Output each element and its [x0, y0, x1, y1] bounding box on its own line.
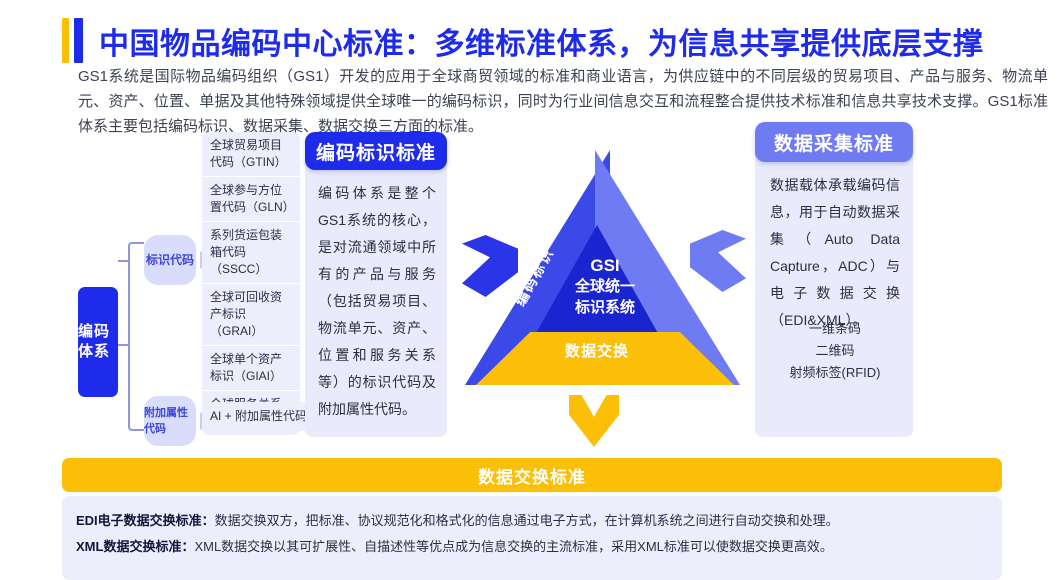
list-item[interactable]: 全球可回收资产标识（GRAI）: [202, 284, 300, 346]
triangle-center-label: GSI 全球统一 标识系统: [555, 255, 655, 318]
carrier-item: 射频标签(RFID): [770, 362, 900, 384]
capture-standard-title: 数据采集标准: [755, 122, 913, 162]
branch-badge-identification[interactable]: 标识代码: [144, 235, 196, 285]
branch-badge-attributes-line1: 附加属性代码: [144, 405, 196, 437]
data-exchange-body: EDI电子数据交换标准：数据交换双方，把标准、协议规范化和格式化的信息通过电子方…: [62, 496, 1002, 580]
carrier-item: 一维条码: [770, 318, 900, 340]
triangle-center-gsi: GSI: [555, 255, 655, 276]
exchange-line-edi-label: EDI电子数据交换标准：: [76, 513, 215, 528]
exchange-line-edi: EDI电子数据交换标准：数据交换双方，把标准、协议规范化和格式化的信息通过电子方…: [76, 508, 988, 534]
page-title: 中国物品编码中心标准：多维标准体系，为信息共享提供底层支撑: [99, 19, 984, 63]
list-item[interactable]: 全球参与方位置代码（GLN）: [202, 177, 300, 222]
tree-root-label: 编码体系: [78, 287, 118, 397]
capture-carrier-list: 一维条码 二维码 射频标签(RFID): [770, 318, 900, 384]
accent-bar-blue: [74, 18, 83, 63]
exchange-line-edi-text: 数据交换双方，把标准、协议规范化和格式化的信息通过电子方式，在计算机系统之间进行…: [215, 513, 839, 528]
branch-badge-identification-line1: 标识代码: [146, 252, 194, 268]
exchange-line-xml-text: XML数据交换以其可扩展性、自描述性等优点成为信息交换的主流标准，采用XML标准…: [194, 539, 832, 554]
list-item[interactable]: 系列货运包装箱代码（SSCC）: [202, 222, 300, 284]
attribute-code-item[interactable]: AI + 附加属性代码: [202, 402, 316, 431]
tree-tick-bottom: [118, 344, 130, 346]
list-item[interactable]: 全球单个资产标识（GIAI）: [202, 346, 300, 391]
capture-standard-body: 数据载体承载编码信息，用于自动数据采集（Auto Data Capture，AD…: [770, 172, 900, 334]
triangle-edge-label-exchange: 数据交换: [565, 340, 629, 361]
branch-badge-attributes[interactable]: 附加属性代码: [144, 396, 196, 446]
tree-bracket: [128, 242, 144, 431]
gs1-triangle-diagram: GSI 全球统一 标识系统 编码标识 数据采集 数据交换: [450, 140, 760, 440]
infographic-page: 中国物品编码中心标准：多维标准体系，为信息共享提供底层支撑 GS1系统是国际物品…: [0, 0, 1064, 577]
tree-tick-top: [118, 260, 130, 262]
chevron-down-icon: [569, 395, 619, 447]
page-header: 中国物品编码中心标准：多维标准体系，为信息共享提供底层支撑: [62, 18, 984, 63]
coding-system-tree: 编码体系 标识代码 附加属性代码 全球贸易项目代码（GTIN） 全球参与方位置代…: [72, 132, 312, 452]
exchange-line-xml-label: XML数据交换标准：: [76, 539, 194, 554]
triangle-center-line1: 全球统一: [555, 276, 655, 297]
list-item[interactable]: 全球贸易项目代码（GTIN）: [202, 132, 300, 177]
data-exchange-section: 数据交换标准 EDI电子数据交换标准：数据交换双方，把标准、协议规范化和格式化的…: [62, 458, 1002, 580]
accent-bar-orange: [62, 18, 69, 63]
identification-code-list: 全球贸易项目代码（GTIN） 全球参与方位置代码（GLN） 系列货运包装箱代码（…: [202, 132, 300, 435]
carrier-item: 二维码: [770, 340, 900, 362]
coding-standard-title: 编码标识标准: [305, 132, 447, 170]
data-exchange-title: 数据交换标准: [62, 458, 1002, 492]
coding-standard-body: 编码体系是整个GS1系统的核心，是对流通领域中所有的产品与服务（包括贸易项目、物…: [318, 180, 436, 423]
exchange-line-xml: XML数据交换标准：XML数据交换以其可扩展性、自描述性等优点成为信息交换的主流…: [76, 534, 988, 560]
triangle-center-line2: 标识系统: [555, 297, 655, 318]
